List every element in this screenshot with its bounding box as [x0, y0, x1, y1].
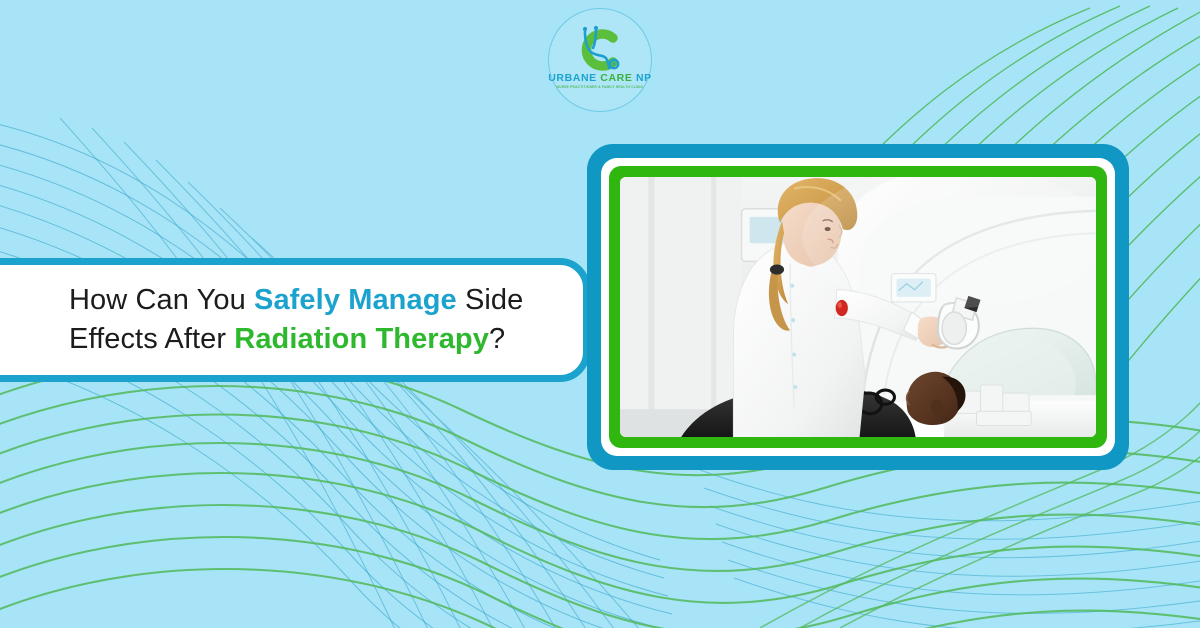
- page-title: How Can You Safely Manage Side Effects A…: [0, 281, 583, 359]
- headline-segment-5: ?: [489, 323, 505, 355]
- logo-title-word-3: NP: [636, 72, 652, 84]
- wave-group-bottom-right-blue: [700, 470, 1200, 628]
- logo-title-word-2: CARE: [600, 72, 632, 84]
- headline-highlight-blue: Safely Manage: [254, 284, 457, 316]
- logo-title: URBANE CARE NP: [548, 72, 652, 84]
- photo-green-frame: [609, 166, 1107, 448]
- banner-canvas: URBANE CARE NP NURSE PRACTITIONER & FAMI…: [0, 0, 1200, 628]
- radiation-therapy-photo: [620, 177, 1096, 437]
- headline-segment-1: How Can You: [69, 284, 254, 316]
- headline-card: How Can You Safely Manage Side Effects A…: [0, 258, 590, 382]
- logo-wordmark: URBANE CARE NP NURSE PRACTITIONER & FAMI…: [548, 72, 652, 90]
- headline-highlight-green: Radiation Therapy: [234, 323, 489, 355]
- photo-outer-frame: [587, 144, 1129, 470]
- brand-logo[interactable]: URBANE CARE NP NURSE PRACTITIONER & FAMI…: [548, 8, 652, 112]
- photo-white-frame: [601, 158, 1115, 456]
- logo-title-word-1: URBANE: [548, 72, 597, 84]
- logo-tagline: NURSE PRACTITIONER & FAMILY HEALTH CLINI…: [548, 85, 652, 90]
- stethoscope-c-monogram-icon: [569, 24, 631, 76]
